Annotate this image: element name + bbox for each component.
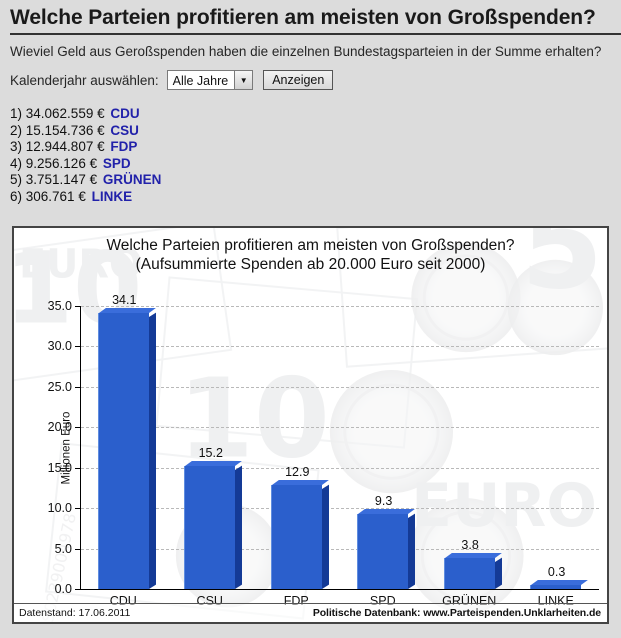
page-title: Welche Parteien profitieren am meisten v…: [10, 5, 621, 35]
y-tick-mark: [75, 306, 81, 307]
rank-party: GRÜNEN: [103, 172, 162, 187]
page-subtitle: Wieviel Geld aus Geroßspenden haben die …: [10, 44, 621, 60]
bar-slot: 12.9FDP: [253, 485, 340, 589]
chevron-down-icon[interactable]: ▼: [234, 71, 252, 89]
rank-amount: 3.751.147 €: [22, 172, 97, 187]
rank-list: 1) 34.062.559 € CDU2) 15.154.736 € CSU3)…: [10, 106, 621, 205]
bar-slot: 3.8GRÜNEN: [426, 558, 513, 589]
bar-top-face: [99, 308, 156, 313]
chart-title-block: Welche Parteien profitieren am meisten v…: [14, 228, 607, 274]
rank-amount: 15.154.736 €: [22, 123, 105, 138]
rank-list-item: 1) 34.062.559 € CDU: [10, 106, 621, 123]
bar-top-face: [272, 480, 329, 485]
controls-row: Kalenderjahr auswählen: Alle Jahre ▼ Anz…: [10, 70, 621, 90]
chart-frame: 10 10 EURO EURO 5 S0239004978 Welche Par…: [12, 226, 609, 624]
y-tick-mark: [75, 589, 81, 590]
bar-slot: 34.1CDU: [80, 313, 167, 589]
y-tick-label: 10.0: [48, 501, 72, 515]
rank-number: 1): [10, 106, 22, 121]
chart-title: Welche Parteien profitieren am meisten v…: [14, 236, 607, 255]
rank-amount: 12.944.807 €: [22, 139, 105, 154]
rank-list-item: 6) 306.761 € LINKE: [10, 189, 621, 206]
rank-number: 5): [10, 172, 22, 187]
bar-top-face: [358, 509, 415, 514]
year-select[interactable]: Alle Jahre ▼: [167, 70, 254, 90]
bar-side-face: [581, 585, 588, 589]
y-tick-label: 35.0: [48, 299, 72, 313]
rank-number: 4): [10, 156, 22, 171]
bar-value-label: 9.3: [375, 494, 392, 508]
rank-list-item: 5) 3.751.147 € GRÜNEN: [10, 172, 621, 189]
rank-party: CSU: [110, 123, 139, 138]
x-axis-line: [80, 589, 599, 590]
rank-party: LINKE: [92, 189, 133, 204]
bar-side-face: [149, 313, 156, 589]
bar-linke[interactable]: 0.3: [530, 585, 581, 589]
rank-party: SPD: [103, 156, 131, 171]
y-tick-label: 0.0: [55, 582, 72, 596]
bar-slot: 0.3LINKE: [513, 585, 600, 589]
bar-side-face: [408, 513, 415, 589]
rank-amount: 306.761 €: [22, 189, 86, 204]
bar-side-face: [322, 484, 329, 589]
bar-slot: 9.3SPD: [340, 514, 427, 589]
show-button[interactable]: Anzeigen: [263, 70, 333, 90]
rank-amount: 34.062.559 €: [22, 106, 105, 121]
y-tick-label: 25.0: [48, 380, 72, 394]
year-select-value: Alle Jahre: [168, 71, 235, 89]
footer-source: Politische Datenbank: www.Parteispenden.…: [313, 607, 601, 619]
bar-side-face: [235, 466, 242, 589]
rank-amount: 9.256.126 €: [22, 156, 97, 171]
bar-top-face: [445, 553, 502, 558]
y-tick-label: 30.0: [48, 339, 72, 353]
rank-party: FDP: [110, 139, 137, 154]
chart-subtitle: (Aufsummierte Spenden ab 20.000 Euro sei…: [14, 255, 607, 274]
bar-value-label: 12.9: [285, 465, 309, 479]
y-tick-label: 20.0: [48, 420, 72, 434]
bar-csu[interactable]: 15.2: [184, 466, 235, 589]
bar-value-label: 34.1: [112, 293, 136, 307]
chart-footer: Datenstand: 17.06.2011 Politische Datenb…: [14, 603, 607, 622]
rank-number: 3): [10, 139, 22, 154]
page-header: Welche Parteien profitieren am meisten v…: [0, 0, 621, 90]
bar-cdu[interactable]: 34.1: [98, 313, 149, 589]
bar-value-label: 0.3: [548, 565, 565, 579]
bar-fdp[interactable]: 12.9: [271, 485, 322, 589]
bar-value-label: 15.2: [199, 446, 223, 460]
plot-area: Millionen Euro 0.05.010.015.020.025.030.…: [80, 306, 599, 590]
bar-top-face: [531, 580, 588, 585]
rank-list-item: 3) 12.944.807 € FDP: [10, 139, 621, 156]
rank-number: 6): [10, 189, 22, 204]
year-select-label: Kalenderjahr auswählen:: [10, 73, 159, 88]
bar-top-face: [185, 461, 242, 466]
rank-list-item: 4) 9.256.126 € SPD: [10, 156, 621, 173]
bar-side-face: [495, 558, 502, 589]
rank-list-item: 2) 15.154.736 € CSU: [10, 123, 621, 140]
bar-slot: 15.2CSU: [167, 466, 254, 589]
bar-spd[interactable]: 9.3: [357, 514, 408, 589]
gridline: [81, 306, 599, 307]
y-tick-label: 15.0: [48, 461, 72, 475]
rank-number: 2): [10, 123, 22, 138]
bar-value-label: 3.8: [461, 538, 478, 552]
bar-grünen[interactable]: 3.8: [444, 558, 495, 589]
footer-data-date: Datenstand: 17.06.2011: [19, 607, 130, 619]
rank-party: CDU: [110, 106, 139, 121]
y-tick-label: 5.0: [55, 542, 72, 556]
